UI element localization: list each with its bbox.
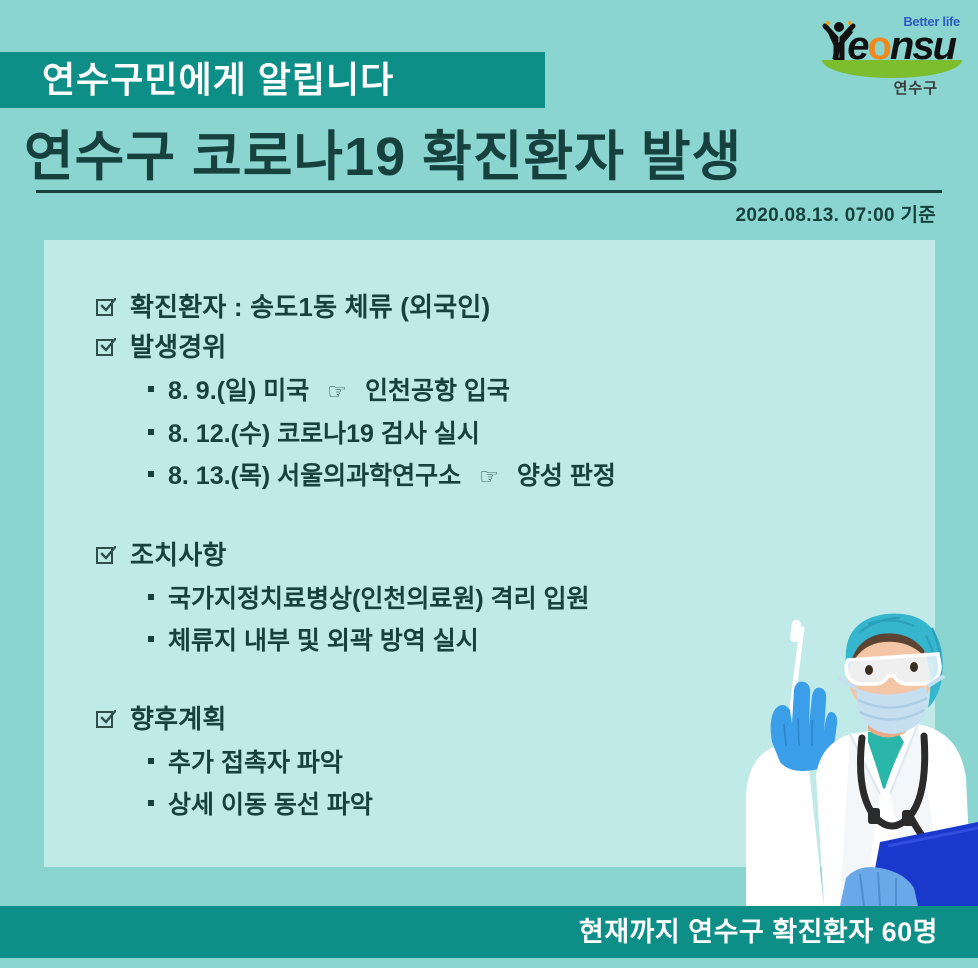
section-confirmed-case: 확진환자 : 송도1동 체류 (외국인) — [96, 290, 736, 324]
announcement-banner-label: 연수구민에게 알립니다 — [42, 50, 394, 110]
logo-green-arc — [822, 60, 962, 78]
list-item: 8. 12.(수) 코로나19 검사 실시 — [148, 413, 736, 455]
list-item: 체류지 내부 및 외곽 방역 실시 — [148, 620, 736, 662]
section-heading-label: 조치사항 — [130, 538, 226, 572]
bullet-square-icon — [148, 758, 154, 764]
list-item-text: 상세 이동 동선 파악 — [168, 784, 373, 826]
bullet-square-icon — [148, 429, 154, 435]
checkbox-checked-icon — [96, 296, 118, 320]
list-item-text: 8. 12.(수) 코로나19 검사 실시 — [168, 413, 480, 455]
checkbox-checked-icon — [96, 708, 118, 732]
list-item-text: 추가 접촉자 파악 — [168, 742, 343, 784]
bullet-square-icon — [148, 594, 154, 600]
section-case-history: 발생경위 8. 9.(일) 미국 ☞ 인천공항 입국 8. 12.(수) 코로나… — [96, 330, 736, 498]
section-heading-row: 향후계획 — [96, 702, 736, 736]
list-item-text-suffix: 인천공항 입국 — [365, 370, 510, 412]
checkbox-checked-icon — [96, 336, 118, 360]
section-heading-row: 조치사항 — [96, 538, 736, 572]
pointing-hand-icon: ☞ — [323, 371, 351, 413]
section-item-list: 8. 9.(일) 미국 ☞ 인천공항 입국 8. 12.(수) 코로나19 검사… — [148, 370, 736, 498]
page-title: 연수구 코로나19 확진환자 발생 — [24, 112, 742, 191]
bullet-square-icon — [148, 386, 154, 392]
datestamp: 2020.08.13. 07:00 기준 — [736, 200, 936, 227]
yeonsu-logo: Better life Yeonsu 연수구 — [816, 8, 966, 94]
poster-root: Better life Yeonsu 연수구 연수구민에게 알립니다 연수구 코… — [0, 0, 978, 968]
list-item: 상세 이동 동선 파악 — [148, 784, 736, 826]
bullet-square-icon — [148, 800, 154, 806]
section-future-plan: 향후계획 추가 접촉자 파악 상세 이동 동선 파악 — [96, 702, 736, 826]
checkbox-checked-icon — [96, 544, 118, 568]
footer-total-label: 현재까지 연수구 확진환자 60명 — [579, 906, 938, 958]
list-item: 국가지정치료병상(인천의료원) 격리 입원 — [148, 578, 736, 620]
pointing-hand-icon: ☞ — [475, 456, 503, 498]
list-item-text: 8. 9.(일) 미국 — [168, 370, 309, 412]
logo-district-label: 연수구 — [894, 77, 938, 98]
list-item-text: 체류지 내부 및 외곽 방역 실시 — [168, 620, 479, 662]
section-heading-label: 확진환자 : 송도1동 체류 (외국인) — [130, 290, 490, 324]
bullet-square-icon — [148, 636, 154, 642]
title-divider — [36, 190, 942, 193]
list-item: 추가 접촉자 파악 — [148, 742, 736, 784]
section-heading-row: 발생경위 — [96, 330, 736, 364]
section-heading-label: 발생경위 — [130, 330, 226, 364]
section-item-list: 추가 접촉자 파악 상세 이동 동선 파악 — [148, 742, 736, 826]
section-heading-label: 향후계획 — [130, 702, 226, 736]
list-item-text: 국가지정치료병상(인천의료원) 격리 입원 — [168, 578, 590, 620]
section-actions-taken: 조치사항 국가지정치료병상(인천의료원) 격리 입원 체류지 내부 및 외곽 방… — [96, 538, 736, 662]
list-item: 8. 13.(목) 서울의과학연구소 ☞ 양성 판정 — [148, 455, 736, 498]
list-item: 8. 9.(일) 미국 ☞ 인천공항 입국 — [148, 370, 736, 413]
list-item-text: 8. 13.(목) 서울의과학연구소 — [168, 455, 461, 497]
content-body: 확진환자 : 송도1동 체류 (외국인) 발생경위 8. 9.(일) 미국 ☞ … — [96, 290, 736, 832]
section-spacer — [96, 504, 736, 538]
bullet-square-icon — [148, 471, 154, 477]
section-item-list: 국가지정치료병상(인천의료원) 격리 입원 체류지 내부 및 외곽 방역 실시 — [148, 578, 736, 662]
section-heading-row: 확진환자 : 송도1동 체류 (외국인) — [96, 290, 736, 324]
section-spacer — [96, 668, 736, 702]
list-item-text-suffix: 양성 판정 — [517, 455, 616, 497]
